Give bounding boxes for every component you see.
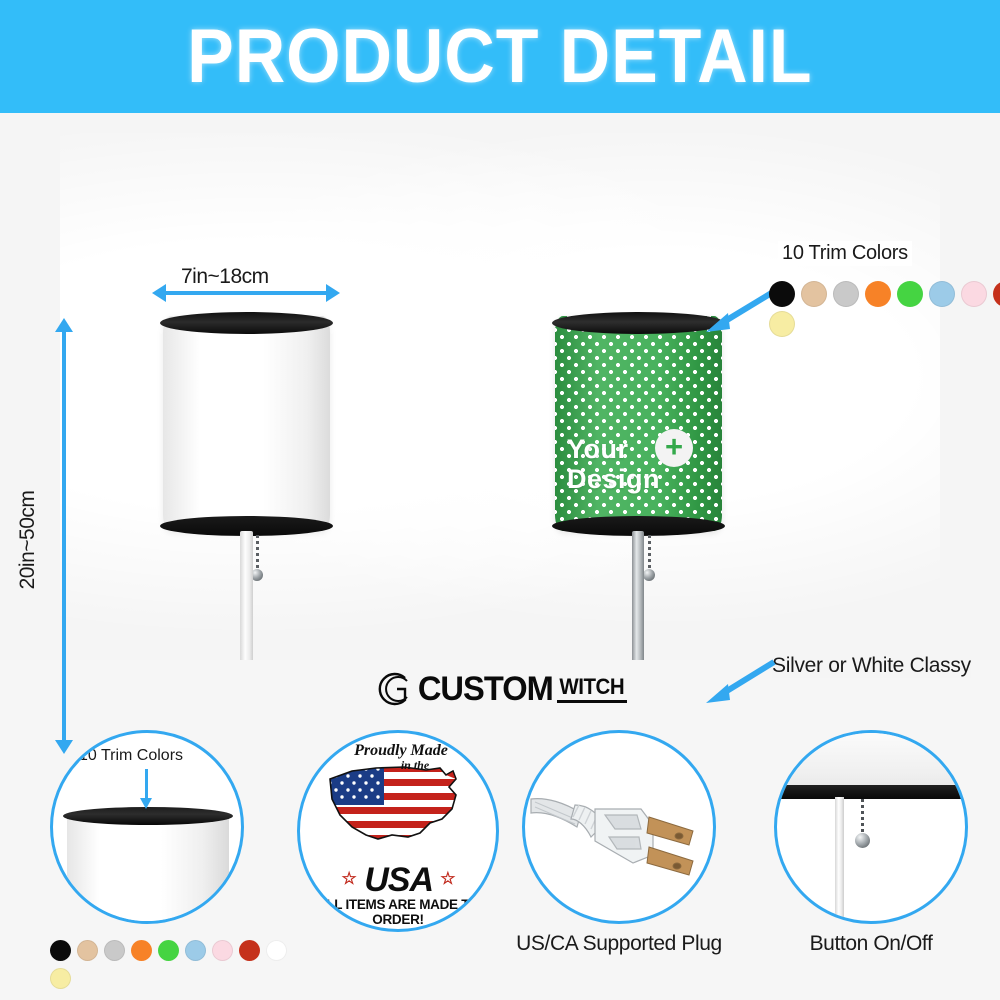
logo-word-witch-wrap: WITCH — [557, 676, 627, 703]
feature-made-in-usa: Proudly Made in the — [287, 730, 509, 932]
trim-color-swatches-row-2 — [769, 311, 795, 337]
base-finish-note: Silver or White Classy — [772, 654, 971, 678]
swatch-gray[interactable] — [104, 940, 125, 961]
product-stage: 7in~18cm 20in~50cm Your Design + 10 Trim — [0, 113, 1000, 708]
your-design-line1: Your — [567, 434, 629, 464]
usa-badge-title-main: Proudly Made — [354, 742, 448, 759]
feature-switch-chain — [861, 799, 864, 835]
feature-switch-label: Button On/Off — [760, 932, 982, 956]
white-lamp-trim-top — [160, 312, 333, 334]
feature-trim-colors: 10 Trim Colors — [36, 730, 258, 924]
feature-trim-colors-shade-body — [67, 815, 229, 924]
green-lamp-shade: Your Design + — [555, 316, 722, 531]
swatch-black[interactable] — [50, 940, 71, 961]
swatch-tan[interactable] — [77, 940, 98, 961]
header-banner: PRODUCT DETAIL — [0, 0, 1000, 113]
base-finish-arrow-icon — [700, 658, 778, 706]
white-lamp-pull-chain — [256, 535, 259, 571]
brand-logo: CUSTOM WITCH — [373, 669, 626, 709]
star-right-icon: ☆ — [440, 869, 454, 888]
swatch-tan[interactable] — [801, 281, 827, 307]
feature-panels: 10 Trim Colors Proudly Made in the — [0, 718, 1000, 1000]
swatch-red[interactable] — [239, 940, 260, 961]
swatch-yellow[interactable] — [50, 968, 71, 989]
swatch-white[interactable] — [266, 940, 287, 961]
swatch-pink[interactable] — [961, 281, 987, 307]
feature-switch: Button On/Off — [760, 730, 982, 956]
swatch-green[interactable] — [897, 281, 923, 307]
swatch-green[interactable] — [158, 940, 179, 961]
page-title: PRODUCT DETAIL — [187, 13, 812, 100]
height-dimension-label: 20in~50cm — [16, 470, 40, 610]
feature-trim-colors-circle: 10 Trim Colors — [50, 730, 244, 924]
swatch-orange[interactable] — [865, 281, 891, 307]
feature-plug-circle — [522, 730, 716, 924]
feature-trim-colors-note: 10 Trim Colors — [79, 747, 183, 765]
c-swirl-icon — [373, 669, 413, 709]
swatch-black[interactable] — [769, 281, 795, 307]
feature-switch-chain-ball — [855, 833, 870, 848]
usa-badge-title-sub: in the — [374, 758, 456, 773]
star-left-icon: ☆ — [342, 869, 356, 888]
swatch-yellow[interactable] — [769, 311, 795, 337]
feature-switch-pole — [835, 797, 844, 921]
feature-trim-colors-trim-band — [63, 807, 233, 825]
feature-switch-circle — [774, 730, 968, 924]
feature-plug-label: US/CA Supported Plug — [508, 932, 730, 956]
swatch-orange[interactable] — [131, 940, 152, 961]
swatch-light-blue[interactable] — [185, 940, 206, 961]
green-lamp-chain-ball — [643, 569, 655, 581]
usa-badge-word-text: USA — [364, 861, 432, 899]
usa-badge-title: Proudly Made in the — [346, 743, 456, 773]
green-lamp-pull-chain — [648, 535, 651, 571]
height-dimension-arrow — [62, 331, 66, 741]
width-dimension-label: 7in~18cm — [178, 265, 272, 289]
swatch-gray[interactable] — [833, 281, 859, 307]
usa-badge-subtitle: ALL ITEMS ARE MADE TO ORDER! — [300, 897, 496, 927]
feature-trim-colors-arrow-icon — [145, 769, 148, 799]
logo-word-custom: CUSTOM — [418, 670, 553, 709]
feature-made-in-usa-circle: Proudly Made in the — [297, 730, 499, 932]
trim-color-swatches-row-1 — [769, 281, 1000, 307]
swatch-light-blue[interactable] — [929, 281, 955, 307]
white-lamp-shade — [163, 316, 330, 531]
feature-plug: US/CA Supported Plug — [508, 730, 730, 956]
width-dimension-arrow — [165, 291, 327, 295]
swatch-red[interactable] — [993, 281, 1000, 307]
logo-underline — [557, 700, 627, 703]
logo-word-witch: WITCH — [559, 676, 624, 698]
swatch-pink[interactable] — [212, 940, 233, 961]
feature-trim-swatches-row-2 — [50, 968, 71, 989]
feature-switch-shade — [774, 733, 968, 793]
plus-circle-icon: + — [655, 429, 693, 467]
feature-trim-swatches-row-1 — [50, 940, 287, 961]
trim-colors-note: 10 Trim Colors — [778, 241, 912, 266]
power-plug-icon — [529, 755, 711, 905]
your-design-text: Your Design — [567, 434, 717, 494]
feature-switch-trim-band — [774, 785, 968, 799]
your-design-line2: Design — [567, 464, 660, 494]
usa-badge-word: ☆ USA ☆ — [300, 861, 496, 900]
